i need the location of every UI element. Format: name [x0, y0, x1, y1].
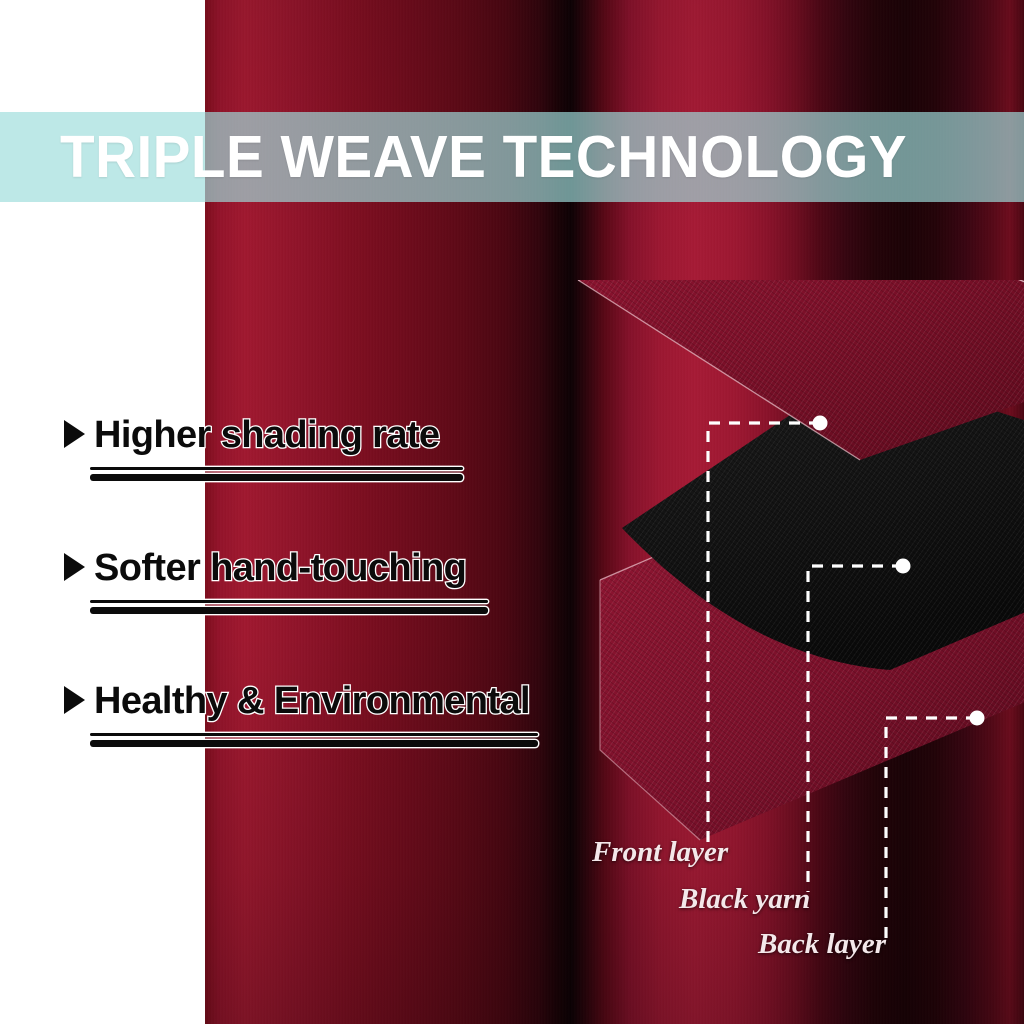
feature-label: Healthy & Environmental	[94, 682, 530, 720]
fabric-layer-svg	[560, 280, 1024, 860]
feature-item-softer-hand-touching: Softer hand-touching	[64, 545, 584, 614]
feature-item-healthy-environmental: Healthy & Environmental	[64, 678, 584, 747]
label-black-yarn: Black yarn	[679, 883, 810, 916]
underline-thick	[90, 474, 463, 481]
fabric-layer-diagram	[560, 280, 1024, 860]
underline-thick	[90, 740, 538, 747]
label-back-layer: Back layer	[758, 928, 886, 961]
feature-label: Higher shading rate	[94, 416, 439, 454]
underline-thin	[90, 600, 488, 603]
product-feature-image: Front layer Black yarn Back layer TRIPLE…	[0, 0, 1024, 1024]
feature-underline-group	[90, 733, 538, 747]
underline-thin	[90, 733, 538, 736]
feature-underline-group	[90, 600, 488, 614]
label-front-layer: Front layer	[592, 836, 728, 869]
underline-thin	[90, 467, 463, 470]
underline-thick	[90, 607, 488, 614]
feature-underline-group	[90, 467, 463, 481]
triangle-right-icon	[64, 420, 85, 448]
triangle-right-icon	[64, 686, 85, 714]
headline-banner: TRIPLE WEAVE TECHNOLOGY	[0, 112, 1024, 202]
page-title: TRIPLE WEAVE TECHNOLOGY	[60, 128, 907, 187]
feature-list: Higher shading rate Softer hand-touching…	[64, 412, 584, 811]
feature-label: Softer hand-touching	[94, 549, 466, 587]
triangle-right-icon	[64, 553, 85, 581]
feature-item-higher-shading-rate: Higher shading rate	[64, 412, 584, 481]
